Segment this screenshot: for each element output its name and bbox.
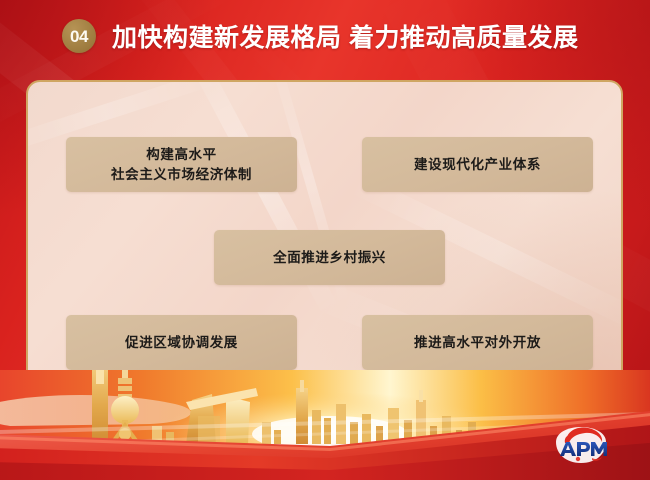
slide-root: 04 加快构建新发展格局 着力推动高质量发展 构建高水平 社会主义市场经济体制 …: [0, 0, 650, 480]
page-title: 加快构建新发展格局 着力推动高质量发展: [112, 18, 578, 54]
section-number-badge: 04: [62, 19, 96, 53]
brand-logo: [548, 424, 614, 466]
content-box-label: 推进高水平对外开放: [414, 333, 541, 353]
section-number-label: 04: [70, 28, 88, 45]
content-box-label: 构建高水平 社会主义市场经济体制: [111, 145, 252, 184]
content-panel: 构建高水平 社会主义市场经济体制 建设现代化产业体系 全面推进乡村振兴 促进区域…: [26, 80, 623, 414]
content-box-4[interactable]: 促进区域协调发展: [66, 315, 297, 370]
content-box-label: 促进区域协调发展: [125, 333, 238, 353]
apm-logo-icon: [548, 424, 614, 466]
content-box-label: 建设现代化产业体系: [414, 155, 541, 175]
content-box-label: 全面推进乡村振兴: [273, 248, 386, 268]
slide-header: 04 加快构建新发展格局 着力推动高质量发展: [0, 0, 650, 72]
content-box-5[interactable]: 推进高水平对外开放: [362, 315, 593, 370]
content-box-3[interactable]: 全面推进乡村振兴: [214, 230, 445, 285]
content-box-2[interactable]: 建设现代化产业体系: [362, 137, 593, 192]
content-box-1[interactable]: 构建高水平 社会主义市场经济体制: [66, 137, 297, 192]
